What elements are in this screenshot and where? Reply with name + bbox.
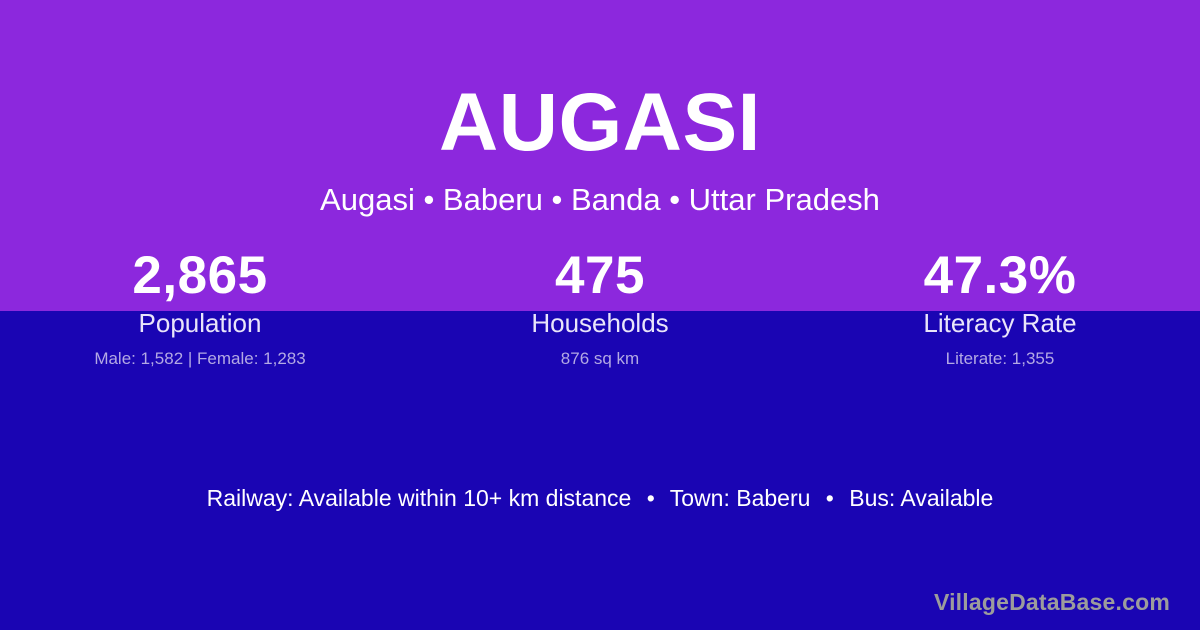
village-info-card: AUGASI Augasi • Baberu • Banda • Uttar P…	[0, 0, 1200, 630]
amenity-separator-icon: •	[817, 485, 843, 513]
stat-sublabel: Male: 1,582 | Female: 1,283	[0, 349, 400, 369]
stat-households: 475 Households 876 sq km	[400, 248, 800, 368]
stat-label: Literacy Rate	[800, 309, 1200, 339]
site-branding: VillageDataBase.com	[934, 589, 1170, 617]
stat-sublabel: Literate: 1,355	[800, 349, 1200, 369]
stat-value: 475	[400, 248, 800, 304]
amenity-railway: Railway: Available within 10+ km distanc…	[207, 485, 632, 511]
stats-row: 2,865 Population Male: 1,582 | Female: 1…	[0, 248, 1200, 368]
breadcrumb: Augasi • Baberu • Banda • Uttar Pradesh	[0, 181, 1200, 218]
amenity-separator-icon: •	[638, 485, 664, 513]
stat-literacy-rate: 47.3% Literacy Rate Literate: 1,355	[800, 248, 1200, 368]
stat-value: 2,865	[0, 248, 400, 304]
amenities-row: Railway: Available within 10+ km distanc…	[0, 485, 1200, 513]
amenity-bus: Bus: Available	[849, 485, 993, 511]
page-title: AUGASI	[0, 82, 1200, 164]
amenity-town: Town: Baberu	[670, 485, 811, 511]
stat-value: 47.3%	[800, 248, 1200, 304]
card-content: AUGASI Augasi • Baberu • Banda • Uttar P…	[0, 0, 1200, 630]
stat-label: Population	[0, 309, 400, 339]
stat-sublabel: 876 sq km	[400, 349, 800, 369]
stat-population: 2,865 Population Male: 1,582 | Female: 1…	[0, 248, 400, 368]
stat-label: Households	[400, 309, 800, 339]
